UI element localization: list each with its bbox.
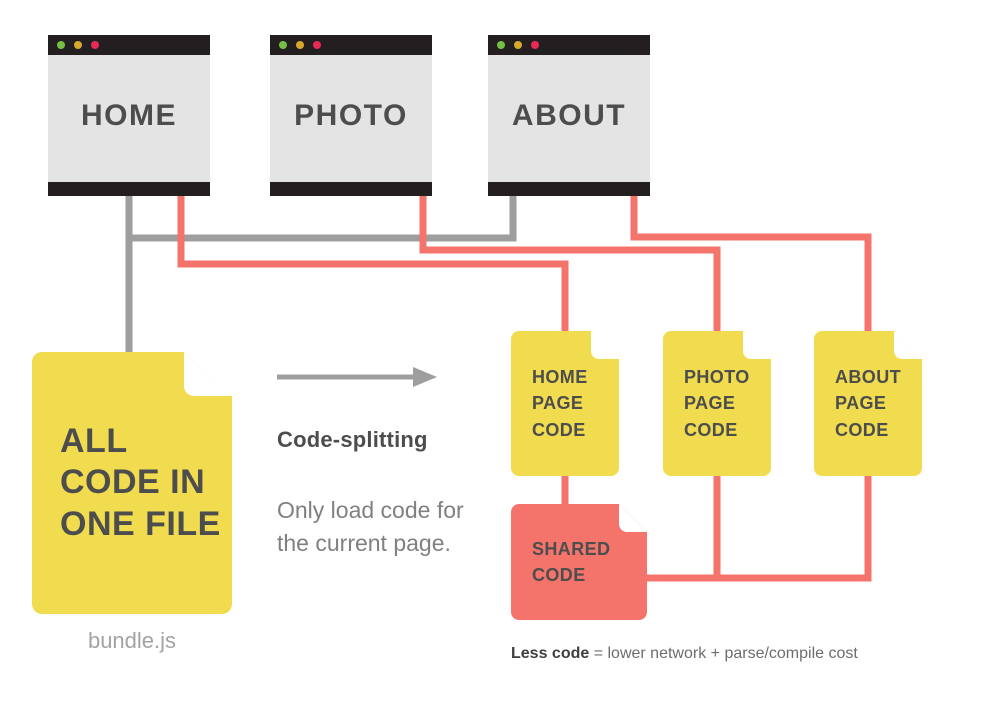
code-splitting-title: Code-splitting — [277, 427, 428, 453]
window-label-home: HOME — [48, 35, 210, 196]
red-wire-about — [634, 196, 868, 345]
window-label-about: ABOUT — [488, 35, 650, 196]
photo-file-line-2: PAGE — [684, 390, 771, 416]
bundle-line-3: ONE FILE — [60, 504, 232, 545]
about-file-line-2: PAGE — [835, 390, 922, 416]
file-bundle-text: ALL CODE IN ONE FILE — [32, 352, 232, 614]
shared-file-line-2: CODE — [532, 562, 647, 588]
file-bundle-all-code[interactable]: ALL CODE IN ONE FILE — [32, 352, 232, 614]
about-file-line-3: CODE — [835, 417, 922, 443]
bundle-line-2: CODE IN — [60, 462, 232, 503]
bottom-note-rest: = lower network + parse/compile cost — [589, 645, 858, 662]
file-about-page-code[interactable]: ABOUT PAGE CODE — [814, 331, 922, 476]
file-home-page-code[interactable]: HOME PAGE CODE — [511, 331, 619, 476]
photo-file-line-1: PHOTO — [684, 364, 771, 390]
bottom-note-bold: Less code — [511, 645, 589, 662]
bundle-filename-caption: bundle.js — [32, 628, 232, 654]
diagram-canvas: HOME PHOTO ABOUT ALL CODE IN ONE FILE — [0, 0, 995, 715]
file-home-text: HOME PAGE CODE — [511, 331, 619, 476]
home-file-line-1: HOME — [532, 364, 619, 390]
gray-bundle-wires — [129, 196, 513, 372]
browser-window-home[interactable]: HOME — [48, 35, 210, 196]
gray-wire-photo — [129, 196, 423, 238]
file-photo-page-code[interactable]: PHOTO PAGE CODE — [663, 331, 771, 476]
browser-window-about[interactable]: ABOUT — [488, 35, 650, 196]
red-wire-shared-about — [717, 462, 868, 578]
bottom-note: Less code = lower network + parse/compil… — [511, 645, 858, 663]
red-wire-photo — [423, 196, 717, 345]
home-file-line-2: PAGE — [532, 390, 619, 416]
file-shared-text: SHARED CODE — [511, 504, 647, 620]
red-wire-home — [181, 196, 565, 345]
file-shared-code[interactable]: SHARED CODE — [511, 504, 647, 620]
code-splitting-description: Only load code for the current page. — [277, 494, 467, 559]
photo-file-line-3: CODE — [684, 417, 771, 443]
file-photo-text: PHOTO PAGE CODE — [663, 331, 771, 476]
window-footerbar — [48, 182, 210, 196]
window-label-photo: PHOTO — [270, 35, 432, 196]
about-file-line-1: ABOUT — [835, 364, 922, 390]
window-footerbar — [270, 182, 432, 196]
home-file-line-3: CODE — [532, 417, 619, 443]
gray-wire-about — [423, 196, 513, 238]
arrow-right-icon — [277, 364, 437, 390]
red-wire-shared-photo — [640, 462, 717, 578]
browser-window-photo[interactable]: PHOTO — [270, 35, 432, 196]
window-footerbar — [488, 182, 650, 196]
shared-file-line-1: SHARED — [532, 536, 647, 562]
bundle-line-1: ALL — [60, 421, 232, 462]
file-about-text: ABOUT PAGE CODE — [814, 331, 922, 476]
